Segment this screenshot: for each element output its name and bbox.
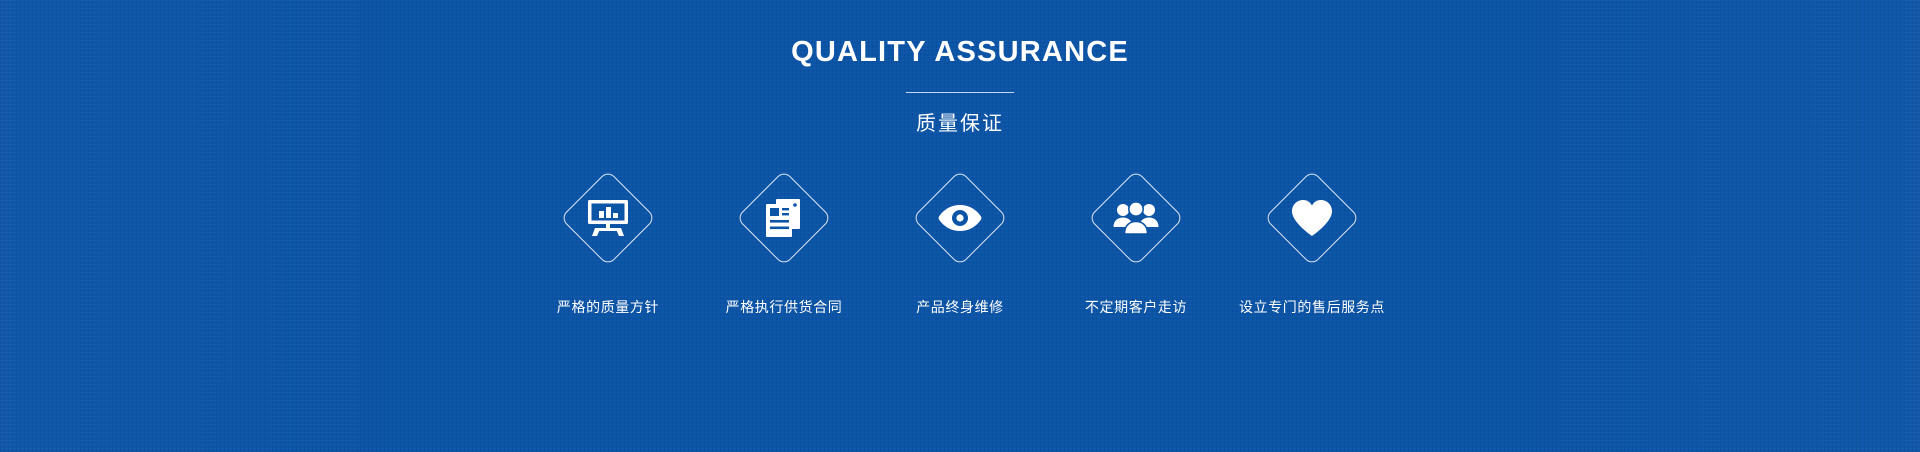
diamond-frame	[912, 170, 1008, 266]
feature-label: 严格的质量方针	[557, 297, 659, 317]
feature-label: 严格执行供货合同	[726, 297, 843, 317]
heart-icon	[1289, 195, 1335, 241]
page-title: QUALITY ASSURANCE	[0, 38, 1920, 67]
feature-list: 严格的质量方针 严格执行供货合同	[0, 165, 1920, 317]
feature-item-supply-contract[interactable]: 严格执行供货合同	[696, 165, 872, 317]
presentation-chart-icon	[585, 195, 631, 241]
users-group-icon	[1113, 195, 1159, 241]
feature-item-quality-policy[interactable]: 严格的质量方针	[520, 165, 696, 317]
feature-item-lifetime-repair[interactable]: 产品终身维修	[872, 165, 1048, 317]
diamond-frame	[560, 170, 656, 266]
diamond-frame	[736, 170, 832, 266]
diamond-frame	[1264, 170, 1360, 266]
quality-assurance-banner: QUALITY ASSURANCE 质量保证	[0, 0, 1920, 452]
feature-label: 不定期客户走访	[1085, 297, 1187, 317]
feature-item-customer-visits[interactable]: 不定期客户走访	[1048, 165, 1224, 317]
title-divider	[906, 92, 1014, 93]
banner-header: QUALITY ASSURANCE 质量保证	[0, 38, 1920, 133]
diamond-frame	[1088, 170, 1184, 266]
feature-label: 产品终身维修	[916, 297, 1004, 317]
page-subtitle: 质量保证	[0, 113, 1920, 133]
eye-icon	[937, 195, 983, 241]
document-contract-icon	[761, 195, 807, 241]
feature-label: 设立专门的售后服务点	[1239, 297, 1385, 317]
feature-item-service-point[interactable]: 设立专门的售后服务点	[1224, 165, 1400, 317]
